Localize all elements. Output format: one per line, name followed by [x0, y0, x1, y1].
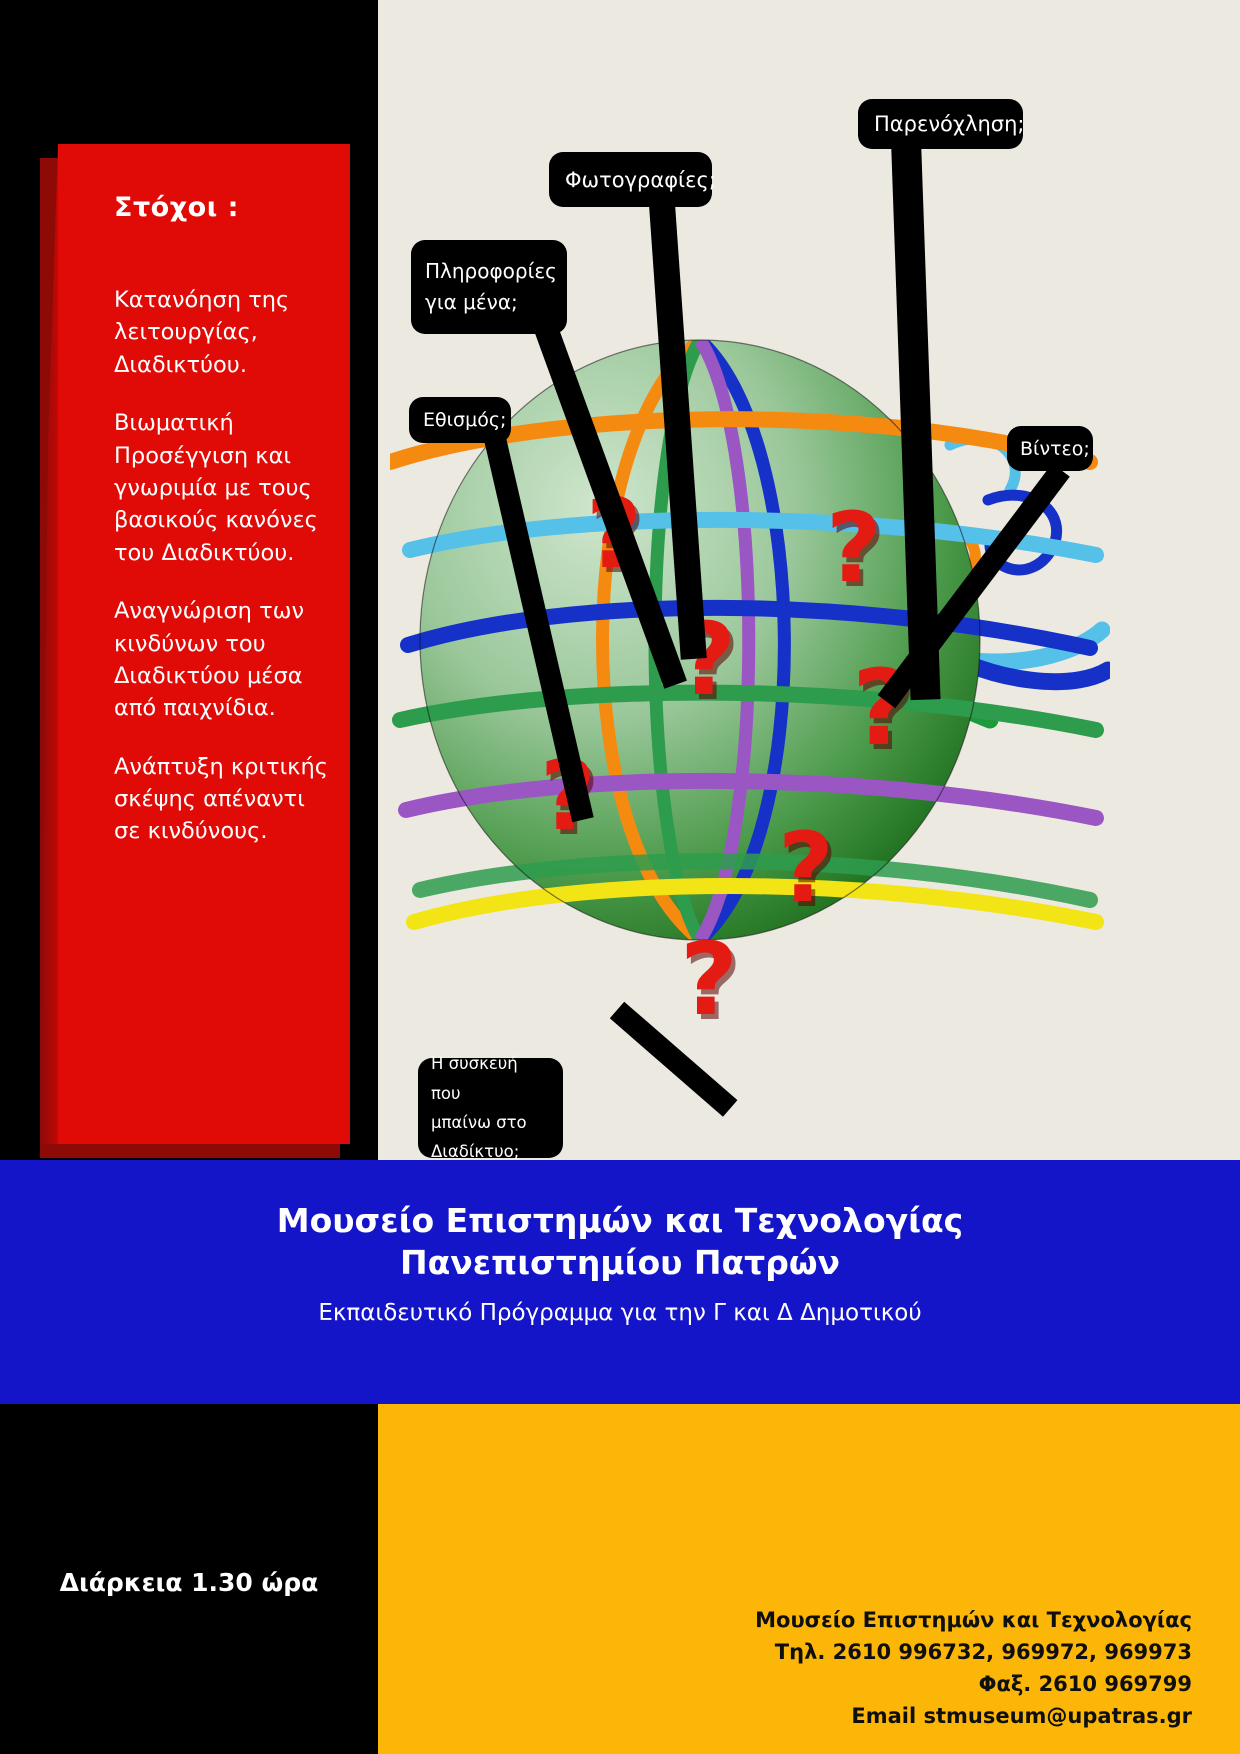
bubble-plirofories[interactable]: Πληροφορίες για μένα; [411, 240, 567, 334]
objectives-panel: Στόχοι : Κατανόηση της λειτουργίας, Διαδ… [58, 144, 350, 1144]
bubble-siskevi-line-2: μπαίνω στο [431, 1108, 550, 1137]
duration-label: Διάρκεια 1.30 ώρα [0, 1568, 378, 1597]
contact-fax: Φαξ. 2610 969799 [492, 1669, 1192, 1701]
bubble-parenochlisi[interactable]: Παρενόχληση; [858, 99, 1023, 149]
bubble-parenochlisi-line-1: Παρενόχληση; [874, 112, 1007, 136]
question-mark-7: ? [778, 820, 834, 916]
bubble-vinteo[interactable]: Βίντεο; [1007, 426, 1093, 471]
museum-name-line-1: Μουσείο Επιστημών και Τεχνολογίας [0, 1201, 1240, 1240]
bubble-ethismos-line-1: Εθισμός; [423, 409, 497, 431]
objective-item-3: Αναγνώριση των κινδύνων του Διαδικτύου μ… [114, 595, 329, 725]
objective-item-2: Βιωματική Προσέγγιση και γνωριμία με του… [114, 407, 329, 569]
bubble-vinteo-line-1: Βίντεο; [1020, 438, 1080, 460]
bubble-siskevi-line-1: Η συσκευή που [431, 1049, 550, 1108]
contact-phone: Τηλ. 2610 996732, 969972, 969973 [492, 1637, 1192, 1669]
globe-illustration [390, 250, 1110, 990]
objectives-title: Στόχοι : [114, 192, 239, 223]
objective-item-1: Κατανόηση της λειτουργίας, Διαδικτύου. [114, 284, 329, 381]
contact-email[interactable]: Email stmuseum@upatras.gr [492, 1701, 1192, 1733]
bubble-ethismos[interactable]: Εθισμός; [409, 397, 511, 443]
museum-name-line-2: Πανεπιστημίου Πατρών [0, 1243, 1240, 1282]
objective-item-4: Ανάπτυξη κριτικής σκέψης απέναντι σε κιν… [114, 751, 329, 848]
program-description: Εκπαιδευτικό Πρόγραμμα για την Γ και Δ Δ… [0, 1300, 1240, 1326]
question-mark-5: ? [826, 500, 882, 596]
bubble-siskevi-line-3: Διαδίκτυο; [431, 1137, 550, 1166]
bubble-plirofories-line-1: Πληροφορίες [425, 256, 553, 287]
objectives-list: Κατανόηση της λειτουργίας, Διαδικτύου. Β… [114, 284, 329, 874]
bubble-fotografies[interactable]: Φωτογραφίες; [549, 152, 712, 207]
bubble-siskevi[interactable]: Η συσκευή που μπαίνω στο Διαδίκτυο; [418, 1058, 563, 1158]
poster-root: Στόχοι : Κατανόηση της λειτουργίας, Διαδ… [0, 0, 1240, 1754]
contact-block: Μουσείο Επιστημών και Τεχνολογίας Τηλ. 2… [492, 1605, 1192, 1733]
question-mark-4: ? [680, 930, 738, 1030]
contact-org: Μουσείο Επιστημών και Τεχνολογίας [492, 1605, 1192, 1637]
bubble-fotografies-line-1: Φωτογραφίες; [565, 168, 696, 192]
bubble-plirofories-line-2: για μένα; [425, 287, 553, 318]
